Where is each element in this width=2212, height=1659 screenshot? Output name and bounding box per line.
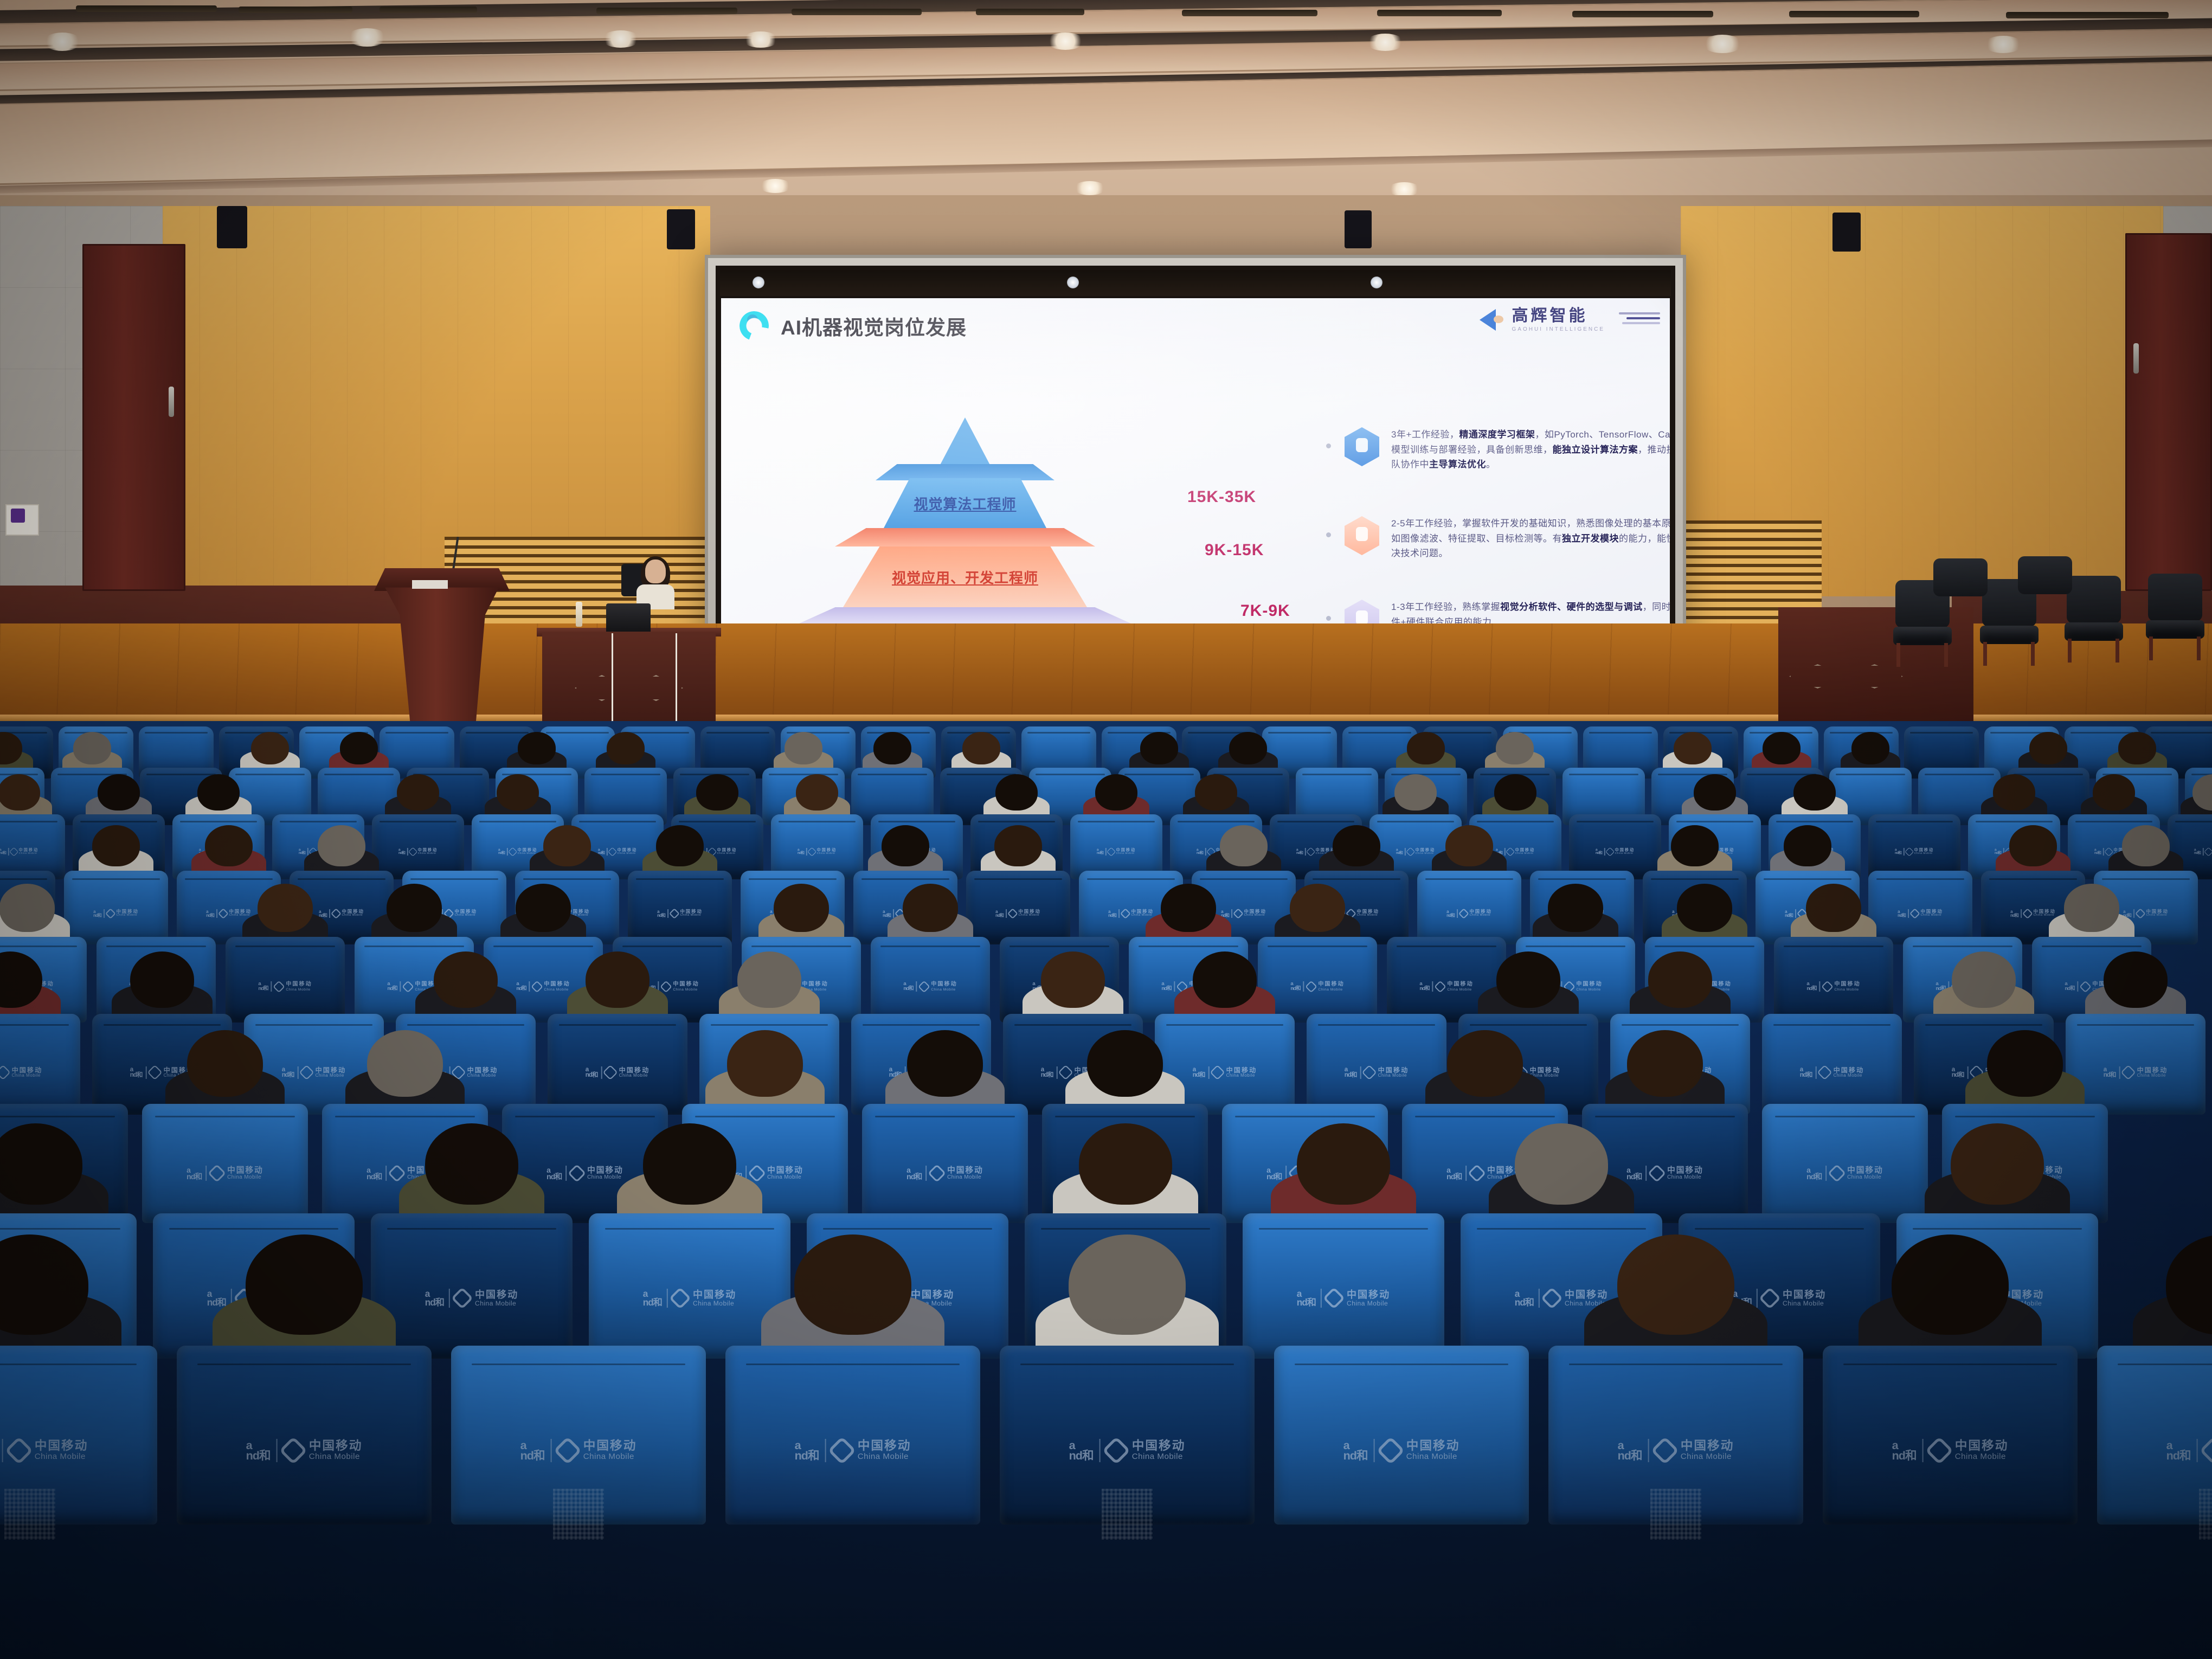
seat-seam — [1124, 774, 1194, 775]
china-mobile-name-en: China Mobile — [454, 914, 477, 917]
person-hex-icon — [1345, 427, 1379, 466]
china-mobile-seat-logo: and和中国移动China Mobile — [906, 1166, 983, 1181]
china-mobile-seat-logo: and和中国移动China Mobile — [0, 848, 38, 856]
china-mobile-name-cn: 中国移动 — [619, 1067, 650, 1074]
seat-seam — [479, 821, 557, 822]
seat-seam — [1836, 774, 1905, 775]
auditorium-seat[interactable]: and和中国移动China Mobile — [64, 871, 168, 944]
and-logo-icon: and和 — [906, 1167, 922, 1180]
china-mobile-name-en: China Mobile — [1576, 988, 1602, 992]
china-mobile-name-en: China Mobile — [583, 1452, 637, 1461]
and-logo-icon: and和 — [1898, 910, 1906, 917]
audience-head — [205, 825, 253, 866]
audience-head — [1447, 1030, 1523, 1097]
seat-seam — [104, 1024, 221, 1026]
seat-seam — [1429, 732, 1491, 734]
seat-seam — [1313, 878, 1400, 880]
china-mobile-name-en: China Mobile — [2146, 914, 2169, 917]
seat-seam — [1747, 774, 1816, 775]
seat-seam — [364, 946, 465, 947]
china-mobile-name-cn: 中国移动 — [1116, 848, 1136, 852]
china-mobile-name-cn: 中国移动 — [673, 982, 699, 988]
audience-head — [0, 884, 55, 931]
china-mobile-seat-logo: and和中国移动China Mobile — [1626, 1166, 1703, 1181]
logo-divider — [1903, 848, 1904, 856]
auditorium-seat[interactable]: and和中国移动China Mobile — [0, 1014, 80, 1115]
china-mobile-name-en: China Mobile — [619, 1073, 650, 1078]
china-mobile-name-en: China Mobile — [1920, 914, 1943, 917]
audience-head — [727, 1030, 803, 1097]
and-logo-icon: and和 — [1952, 1067, 1964, 1078]
logo-divider — [1648, 1439, 1649, 1462]
and-logo-icon: and和 — [1446, 910, 1455, 917]
china-mobile-name-en: China Mobile — [309, 1452, 363, 1461]
china-mobile-ring-icon — [608, 847, 616, 856]
china-mobile-name-cn: 中国移动 — [1615, 848, 1635, 852]
seat-seam — [978, 821, 1056, 822]
auditorium-seat[interactable]: and和中国移动China Mobile — [1258, 937, 1377, 1023]
and-logo-icon: and和 — [643, 1290, 662, 1307]
spiral-circle-logo-icon — [740, 311, 769, 340]
china-mobile-ring-icon — [554, 1436, 582, 1464]
china-mobile-seat-logo: and和中国移动China Mobile — [1892, 1439, 2009, 1462]
logo-divider — [1922, 1439, 1923, 1462]
china-mobile-name-en: China Mobile — [858, 1452, 911, 1461]
seat-seam — [280, 821, 357, 822]
audience-head — [497, 774, 539, 811]
china-mobile-name-cn: 中国移动 — [1847, 1167, 1883, 1175]
auditorium-seat[interactable]: and和中国移动China Mobile — [2066, 1014, 2205, 1115]
china-mobile-ring-icon — [928, 1165, 946, 1183]
qr-code-icon[interactable] — [2199, 1489, 2212, 1540]
china-mobile-seat-logo: and和中国移动China Mobile — [657, 909, 703, 918]
china-mobile-ring-icon — [2022, 908, 2033, 918]
seat-seam — [1391, 774, 1461, 775]
seat-seam — [0, 946, 77, 947]
auditorium-seat[interactable]: and和中国移动China Mobile — [589, 1213, 790, 1359]
and-logo-icon: and和 — [366, 1167, 382, 1180]
audience-head — [434, 951, 498, 1008]
china-mobile-name-en: China Mobile — [1116, 852, 1136, 855]
auditorium-seat[interactable]: and和中国移动China Mobile — [1762, 1014, 1902, 1115]
china-mobile-name-cn: 中国移动 — [1447, 982, 1473, 988]
logo-divider — [1604, 848, 1605, 856]
logo-divider — [1231, 909, 1232, 918]
water-bottle — [576, 602, 582, 627]
auditorium-seat[interactable]: and和中国移动China Mobile — [372, 814, 464, 879]
auditorium-seat[interactable]: and和中国移动China Mobile — [0, 814, 65, 879]
china-mobile-seat-logo: and和中国移动China Mobile — [1290, 981, 1344, 992]
qr-code-icon[interactable] — [553, 1489, 604, 1540]
china-mobile-seat-logo: and和中国移动China Mobile — [1345, 1066, 1409, 1079]
china-mobile-name-cn: 中国移动 — [467, 1067, 498, 1074]
china-mobile-ring-icon — [918, 980, 930, 993]
logo-divider — [1006, 909, 1007, 918]
gear-hex-icon — [1345, 516, 1379, 555]
china-mobile-ring-icon — [1102, 1436, 1130, 1464]
china-mobile-ring-icon — [273, 980, 285, 993]
china-mobile-ring-icon — [1210, 1065, 1225, 1080]
china-mobile-name-en: China Mobile — [1318, 988, 1344, 992]
china-mobile-seat-logo: and和中国移动China Mobile — [2123, 909, 2169, 918]
china-mobile-name-en: China Mobile — [1615, 852, 1635, 855]
auditorium-seat[interactable]: and和中国移动China Mobile — [1070, 814, 1162, 879]
seat-seam — [1235, 1116, 1374, 1117]
qr-code-icon[interactable] — [4, 1489, 55, 1540]
seat-seam — [235, 774, 305, 775]
qr-code-icon[interactable] — [1102, 1489, 1153, 1540]
china-mobile-name-cn: 中国移动 — [475, 1290, 518, 1300]
seat-seam — [2014, 774, 2083, 775]
audience-head — [1193, 951, 1257, 1008]
ceiling-downlight — [43, 33, 81, 51]
china-mobile-name-en: China Mobile — [1667, 1175, 1703, 1180]
auditorium-seat[interactable]: and和中国移动China Mobile — [871, 937, 990, 1023]
seat-seam — [1277, 821, 1355, 822]
china-mobile-name-cn: 中国移动 — [1347, 1290, 1390, 1300]
seat-seam — [1302, 774, 1372, 775]
seat-seam — [493, 946, 594, 947]
logo-divider — [1539, 1289, 1540, 1307]
seat-seam — [380, 821, 457, 822]
logo-divider — [1056, 1066, 1057, 1079]
seat-seam — [0, 821, 57, 822]
auditorium-seat[interactable]: and和中国移动China Mobile — [548, 1014, 687, 1115]
seat-seam — [1773, 1024, 1891, 1026]
china-mobile-name-en: China Mobile — [1447, 988, 1473, 992]
seat-seam — [1676, 821, 1754, 822]
auditorium-seat[interactable]: and和中国移动China Mobile — [226, 937, 345, 1023]
china-mobile-ring-icon — [1759, 1287, 1781, 1309]
audience-head — [696, 774, 738, 811]
seat-seam — [1784, 946, 1884, 947]
china-mobile-seat-logo: and和中国移动China Mobile — [1895, 848, 1934, 856]
china-mobile-ring-icon — [1007, 908, 1018, 918]
seat-seam — [751, 946, 852, 947]
ceiling-downlight — [1366, 34, 1404, 51]
auditorium-seat[interactable]: and和中国移动China Mobile — [628, 871, 732, 944]
china-mobile-ring-icon — [299, 1065, 314, 1080]
china-mobile-seat-logo: and和中国移动China Mobile — [516, 981, 570, 992]
seat-seam — [1318, 1024, 1436, 1026]
logo-divider — [8, 848, 9, 856]
ceiling-downlight — [1388, 182, 1420, 196]
and-logo-icon: and和 — [1419, 982, 1429, 991]
auditorium-seat[interactable]: and和中国移动China Mobile — [1243, 1213, 1444, 1359]
audience-head — [882, 825, 929, 866]
and-logo-icon: and和 — [1800, 1067, 1812, 1078]
logo-divider — [1105, 848, 1106, 856]
seat-seam — [185, 878, 272, 880]
china-mobile-seat-logo: and和中国移动China Mobile — [643, 1289, 736, 1307]
and-logo-icon: and和 — [425, 1290, 444, 1307]
pyramid-shelf-mid — [835, 528, 1095, 546]
logo-divider — [565, 1166, 567, 1181]
china-mobile-name-en: China Mobile — [1847, 1175, 1883, 1180]
logo-divider — [2021, 909, 2022, 918]
description-text-0: 3年+工作经验，精通深度学习框架，如PyTorch、TensorFlow、Caf… — [1391, 427, 1670, 472]
seat-seam — [695, 1116, 834, 1117]
logo-divider — [400, 981, 401, 992]
auditorium-seat[interactable]: and和中国移动China Mobile — [1417, 871, 1521, 944]
and-logo-icon: and和 — [1618, 1440, 1642, 1461]
seat-seam — [746, 1364, 960, 1365]
china-mobile-name-en: China Mobile — [19, 852, 39, 855]
ceiling-downlight — [1073, 181, 1106, 195]
seat-seam — [1078, 821, 1155, 822]
china-mobile-seat-logo: and和中国移动China Mobile — [425, 1289, 518, 1307]
seat-seam — [2102, 878, 2189, 880]
logo-divider — [1303, 981, 1304, 992]
logo-divider — [916, 981, 917, 992]
seat-seam — [1415, 1116, 1554, 1117]
logo-divider — [276, 1439, 277, 1462]
china-mobile-seat-logo: and和中国移动China Mobile — [586, 1066, 650, 1079]
seat-seam — [0, 1116, 115, 1117]
china-mobile-ring-icon — [1817, 1065, 1832, 1080]
audience-head — [73, 732, 111, 764]
china-mobile-ring-icon — [402, 980, 414, 993]
and-logo-icon: and和 — [2166, 1440, 2191, 1461]
china-mobile-name-en: China Mobile — [587, 1175, 623, 1180]
seat-seam — [1009, 946, 1110, 947]
logo-divider — [407, 848, 408, 856]
wall-notice — [5, 504, 39, 536]
and-logo-icon: and和 — [883, 910, 891, 917]
auditorium-seat[interactable]: and和中国移动China Mobile — [1774, 937, 1893, 1023]
china-mobile-name-en: China Mobile — [1226, 1073, 1257, 1078]
audience-head — [2029, 732, 2067, 764]
auditorium-seat[interactable]: and和中国移动China Mobile — [1868, 814, 1960, 879]
auditorium-seat[interactable]: and和中国移动China Mobile — [371, 1213, 573, 1359]
and-logo-icon: and和 — [2010, 910, 2018, 917]
china-mobile-seat-logo: and和中国移动China Mobile — [1419, 981, 1473, 992]
logo-divider — [1360, 1066, 1361, 1079]
china-mobile-seat-logo: and和中国移动China Mobile — [2194, 848, 2212, 856]
seat-seam — [2151, 732, 2212, 734]
seat-seam — [2075, 821, 2153, 822]
seat-seam — [1775, 1116, 1914, 1117]
china-mobile-name-en: China Mobile — [475, 1300, 518, 1307]
china-mobile-seat-logo: and和中国移动China Mobile — [1898, 909, 1943, 918]
china-mobile-name-en: China Mobile — [2137, 1073, 2168, 1078]
audience-head — [1548, 884, 1603, 931]
slide-title: AI机器视觉岗位发展 — [781, 311, 967, 340]
and-logo-icon: and和 — [93, 910, 101, 917]
audience-head — [1763, 732, 1801, 764]
seat-seam — [1425, 878, 1513, 880]
seat-seam — [1655, 946, 1755, 947]
audience-head — [318, 825, 365, 866]
seat-seam — [1910, 732, 1973, 734]
china-mobile-seat-logo: and和中国移动China Mobile — [546, 1166, 623, 1181]
audience-head — [903, 884, 957, 931]
audience-head — [1892, 1234, 2009, 1335]
audience-head — [518, 732, 556, 764]
china-mobile-seat-logo: and和中国移动China Mobile — [1193, 1066, 1257, 1079]
auditorium-seat[interactable]: and和中国移动China Mobile — [177, 1346, 432, 1525]
auditorium-seat[interactable]: and和中国移动China Mobile — [142, 1104, 308, 1223]
china-mobile-name-cn: 中国移动 — [802, 982, 828, 988]
logo-divider — [1174, 981, 1175, 992]
seat-seam — [1200, 878, 1287, 880]
china-mobile-name-en: China Mobile — [1416, 852, 1436, 855]
china-mobile-name-en: China Mobile — [1356, 914, 1379, 917]
and-logo-icon: and和 — [657, 910, 665, 917]
china-mobile-name-cn: 中国移动 — [1416, 848, 1436, 852]
audience-head — [907, 1030, 983, 1097]
seat-seam — [1139, 946, 1239, 947]
china-mobile-seat-logo: and和中国移动China Mobile — [206, 909, 252, 918]
auditorium-seat[interactable]: and和中国移动China Mobile — [2097, 1346, 2212, 1525]
china-mobile-seat-logo: and和中国移动China Mobile — [498, 848, 537, 856]
audience-head — [1290, 884, 1345, 931]
brand-bars-icon — [1619, 312, 1660, 327]
seat-seam — [605, 1228, 775, 1230]
seat-seam — [1027, 732, 1090, 734]
seat-seam — [1178, 821, 1255, 822]
seat-seam — [1925, 1024, 2043, 1026]
china-mobile-ring-icon — [508, 847, 517, 856]
china-mobile-name-en: China Mobile — [817, 852, 837, 855]
auditorium-seat[interactable]: and和中国移动China Mobile — [451, 1346, 706, 1525]
auditorium-seat[interactable]: and和中国移动China Mobile — [1569, 814, 1661, 879]
seat-seam — [546, 732, 609, 734]
china-mobile-ring-icon — [1306, 847, 1315, 856]
china-mobile-ring-icon — [2204, 847, 2212, 856]
china-mobile-ring-icon — [1305, 980, 1317, 993]
logo-divider — [385, 1166, 387, 1181]
china-mobile-ring-icon — [1323, 1287, 1345, 1309]
career-pyramid: 视觉算法工程师 视觉应用、开发工程师 视觉调试工程师 — [775, 417, 1155, 651]
audience-head — [246, 1234, 363, 1335]
brand-logo: 高辉智能 GAOHUI INTELLIGENCE — [1480, 307, 1605, 333]
and-logo-icon: and和 — [1041, 1067, 1053, 1078]
china-mobile-name-cn: 中国移动 — [544, 982, 570, 988]
china-mobile-name-en: China Mobile — [1131, 914, 1154, 917]
seat-seam — [407, 1024, 525, 1026]
seat-seam — [169, 1228, 339, 1230]
and-logo-icon: and和 — [387, 982, 397, 991]
ceiling-downlight — [743, 31, 779, 48]
china-mobile-ring-icon — [531, 980, 543, 993]
china-mobile-ring-icon — [9, 847, 18, 856]
seat-seam — [823, 1228, 993, 1230]
auditorium-seat[interactable]: and和中国移动China Mobile — [1823, 1346, 2078, 1525]
auditorium-seat[interactable]: and和中国移动China Mobile — [1868, 871, 1972, 944]
audience-head — [92, 825, 140, 866]
seat-seam — [1259, 1228, 1429, 1230]
seat-seam — [1477, 1228, 1647, 1230]
ceiling-downlight — [759, 179, 792, 193]
seat-seam — [1622, 1024, 1739, 1026]
audience-head — [1140, 732, 1178, 764]
china-mobile-ring-icon — [331, 908, 341, 918]
laptop — [606, 603, 651, 632]
seat-seam — [779, 821, 856, 822]
and-logo-icon: and和 — [0, 848, 6, 855]
aisle-right — [1551, 1534, 1616, 1659]
china-mobile-ring-icon — [1605, 847, 1614, 856]
seat-seam — [1589, 732, 1652, 734]
china-mobile-seat-logo: and和中国移动China Mobile — [1596, 848, 1635, 856]
seat-seam — [1055, 1116, 1194, 1117]
china-mobile-seat-logo: and和中国移动China Mobile — [795, 1439, 911, 1462]
logo-divider — [667, 909, 668, 918]
seat-seam — [180, 821, 258, 822]
audience-head — [737, 951, 802, 1008]
china-mobile-name-cn: 中国移动 — [1318, 982, 1344, 988]
china-mobile-seat-logo: and和中国移动China Mobile — [1806, 1166, 1883, 1181]
logo-divider — [1465, 1166, 1467, 1181]
seat-seam — [706, 732, 769, 734]
auditorium-seat[interactable]: and和中国移动China Mobile — [966, 871, 1070, 944]
brand-name-cn: 高辉智能 — [1512, 308, 1605, 324]
china-mobile-name-cn: 中国移动 — [19, 848, 39, 852]
logo-divider — [893, 909, 894, 918]
seat-seam — [858, 774, 927, 775]
china-mobile-ring-icon — [1909, 908, 1920, 918]
china-mobile-name-en: China Mobile — [286, 988, 312, 992]
and-logo-icon: and和 — [1108, 910, 1116, 917]
china-mobile-name-en: China Mobile — [1378, 1073, 1409, 1078]
china-mobile-seat-logo: and和中国移动China Mobile — [2104, 1066, 2168, 1079]
audience-head — [1648, 951, 1713, 1008]
china-mobile-ring-icon — [2079, 980, 2092, 993]
china-mobile-ring-icon — [1377, 1436, 1405, 1464]
china-mobile-name-cn: 中国移动 — [587, 1167, 623, 1175]
and-logo-icon: and和 — [1297, 1290, 1316, 1307]
aisle-left — [553, 1534, 618, 1659]
china-mobile-name-en: China Mobile — [693, 1300, 736, 1307]
china-mobile-ring-icon — [1434, 980, 1446, 993]
audience-head — [251, 732, 289, 764]
auditorium-seat[interactable]: and和中国移动China Mobile — [1274, 1346, 1529, 1525]
auditorium-seat[interactable]: and和中国移动China Mobile — [725, 1346, 980, 1525]
chevron-diamond-brand-icon — [1480, 307, 1506, 333]
logo-divider — [1967, 1066, 1968, 1079]
china-mobile-name-cn: 中国移动 — [717, 848, 737, 852]
china-mobile-ring-icon — [1648, 1165, 1666, 1183]
auditorium-seat[interactable]: and和中国移动China Mobile — [1762, 1104, 1928, 1223]
door-right[interactable] — [2125, 233, 2212, 591]
seat-seam — [2077, 1024, 2195, 1026]
audience-head — [1297, 1123, 1390, 1205]
china-mobile-name-en: China Mobile — [12, 1073, 43, 1078]
seat-seam — [1955, 1116, 2094, 1117]
china-mobile-ring-icon — [408, 847, 417, 856]
china-mobile-name-cn: 中国移动 — [418, 848, 438, 852]
and-logo-icon: and和 — [398, 848, 405, 855]
china-mobile-name-en: China Mobile — [1834, 988, 1860, 992]
seat-seam — [1213, 774, 1283, 775]
and-logo-icon: and和 — [1197, 848, 1203, 855]
auditorium-seat[interactable]: and和中国移动China Mobile — [771, 814, 863, 879]
china-mobile-name-en: China Mobile — [673, 988, 699, 992]
seat-seam — [80, 821, 158, 822]
brand-name-en: GAOHUI INTELLIGENCE — [1512, 327, 1605, 332]
auditorium-seat[interactable]: and和中国移动China Mobile — [0, 1346, 157, 1525]
door-left[interactable] — [82, 244, 185, 591]
auditorium-seat[interactable]: and和中国移动China Mobile — [1548, 1346, 1803, 1525]
china-mobile-seat-logo: and和中国移动China Mobile — [798, 848, 837, 856]
seat-seam — [1843, 1364, 2057, 1365]
seat-seam — [863, 1024, 980, 1026]
auditorium-seat[interactable]: and和中国移动China Mobile — [862, 1104, 1028, 1223]
auditorium-seat[interactable]: and和中国移动China Mobile — [1000, 1346, 1255, 1525]
qr-code-icon[interactable] — [1650, 1489, 1701, 1540]
pyramid-level-0: 视觉算法工程师 — [884, 478, 1046, 528]
